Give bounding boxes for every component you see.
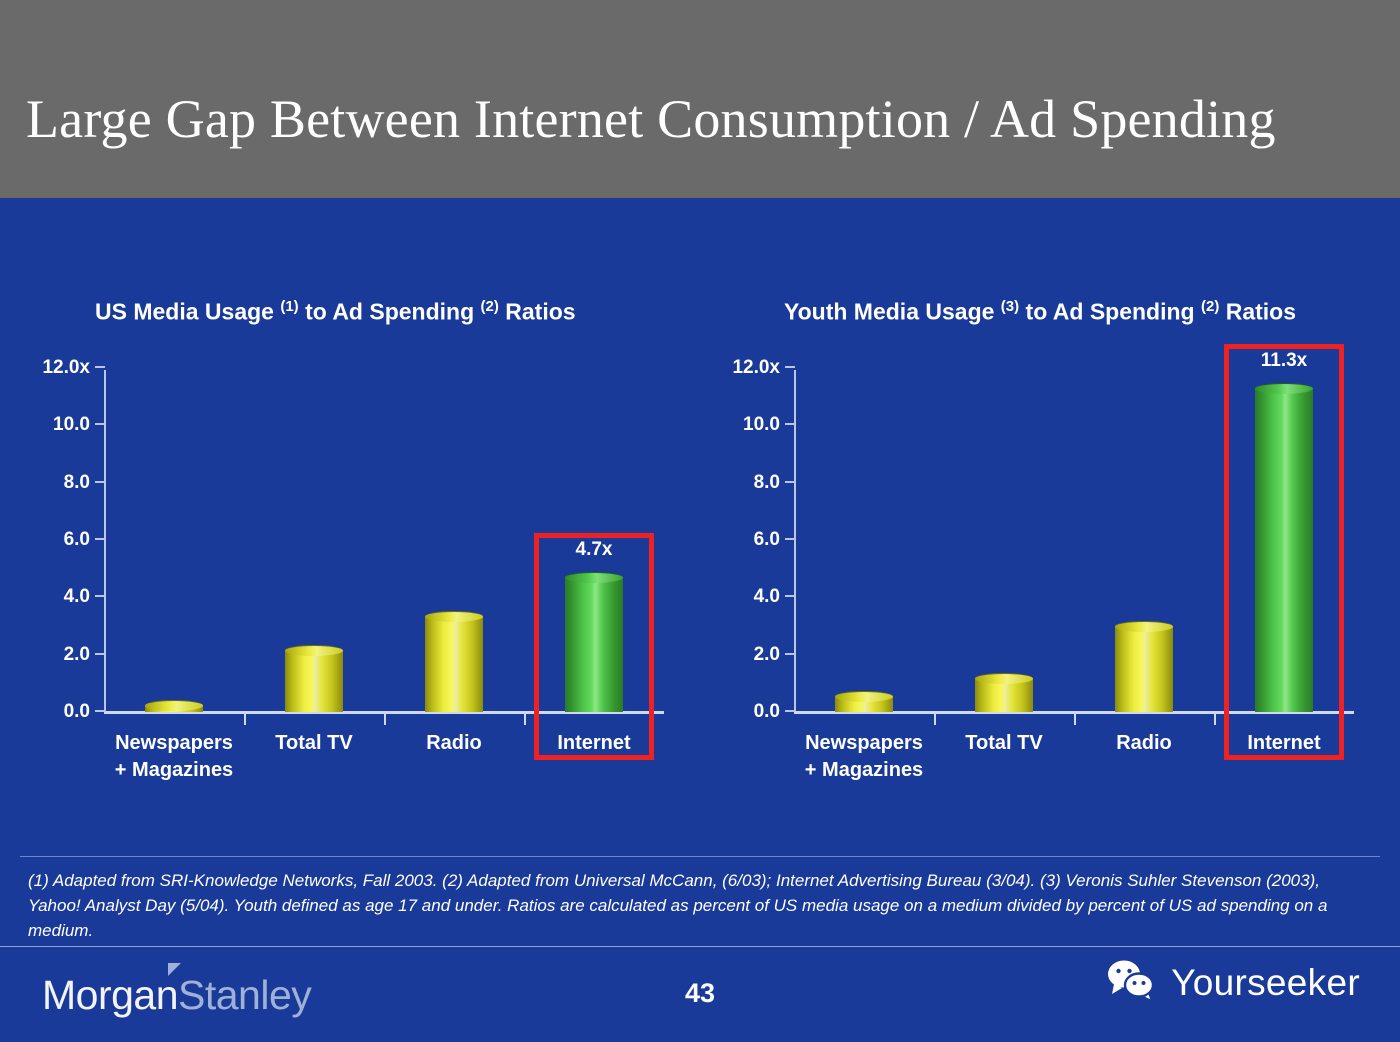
bar-data-label: 11.3x [1261, 350, 1308, 372]
chart-title-part-c: Ratios [1226, 299, 1296, 325]
bar-radio[interactable] [425, 616, 483, 712]
y-axis-tick [95, 710, 105, 712]
y-axis-tick-label: 12.0x [732, 357, 780, 379]
y-axis-tick-label: 6.0 [754, 529, 780, 551]
yourseeker-watermark: Yourseeker [1105, 958, 1360, 1007]
bar-data-label: 4.7x [576, 539, 613, 561]
bar-body [285, 650, 343, 712]
y-axis-tick [95, 481, 105, 483]
bar-body [1255, 388, 1313, 712]
footnote-divider [20, 856, 1380, 857]
y-axis-tick [785, 710, 795, 712]
y-axis-tick [785, 538, 795, 540]
chart-title-superscript-2: (2) [481, 298, 499, 315]
y-axis-tick-label: 2.0 [64, 644, 90, 666]
footnote-text: (1) Adapted from SRI-Knowledge Networks,… [28, 868, 1376, 943]
y-axis-tick [785, 423, 795, 425]
x-axis-category-label: Internet [557, 730, 630, 757]
y-axis-tick-label: 0.0 [64, 701, 90, 723]
x-axis-category-line: + Magazines [805, 757, 923, 784]
chart-title-superscript-1: (1) [280, 298, 298, 315]
bar-top-cap [145, 700, 203, 711]
bar-top-cap [565, 572, 623, 583]
morgan-stanley-triangle-icon [168, 963, 181, 976]
bar-internet[interactable] [1255, 388, 1313, 712]
chart-panel-us-media-usage: US Media Usage (1) to Ad Spending (2) Ra… [20, 270, 680, 800]
y-axis-tick [95, 423, 105, 425]
chart-title-youth-media-usage: Youth Media Usage (3) to Ad Spending (2)… [710, 290, 1370, 329]
x-axis-category-line: Internet [1247, 730, 1320, 757]
bar-body [565, 577, 623, 712]
x-axis-category-line: Internet [557, 730, 630, 757]
bar-top-cap [1115, 621, 1173, 632]
y-axis-tick-label: 2.0 [754, 644, 780, 666]
chart-title-us-media-usage: US Media Usage (1) to Ad Spending (2) Ra… [20, 290, 680, 329]
bar-body [1115, 626, 1173, 712]
footer-divider [0, 946, 1400, 947]
x-axis-tick [1074, 714, 1076, 725]
y-axis-tick-label: 6.0 [64, 529, 90, 551]
bar-top-cap [975, 673, 1033, 684]
x-axis-category-label: Radio [1116, 730, 1172, 757]
y-axis-tick-label: 12.0x [42, 357, 90, 379]
x-axis-tick [934, 714, 936, 725]
x-axis-category-line: Newspapers [805, 730, 923, 757]
slide: Large Gap Between Internet Consumption /… [0, 0, 1400, 1042]
y-axis-tick-label: 8.0 [64, 472, 90, 494]
y-axis-tick [785, 366, 795, 368]
bar-top-cap [425, 611, 483, 622]
chart-title-part-b: to Ad Spending [305, 299, 474, 325]
chart-title-superscript-2: (2) [1201, 298, 1219, 315]
x-axis-category-line: Total TV [275, 730, 352, 757]
bar-top-cap [285, 645, 343, 656]
bar-newspapers-magazines[interactable] [835, 696, 893, 712]
y-axis-tick-label: 4.0 [64, 586, 90, 608]
yourseeker-label: Yourseeker [1171, 962, 1360, 1004]
x-axis-category-label: Radio [426, 730, 482, 757]
y-axis-tick [95, 595, 105, 597]
x-axis-category-label: Total TV [275, 730, 352, 757]
x-axis-tick [1214, 714, 1216, 725]
y-axis-tick [785, 595, 795, 597]
wechat-icon [1105, 958, 1159, 1007]
x-axis-tick [244, 714, 246, 725]
x-axis-category-line: Radio [426, 730, 482, 757]
y-axis-tick [785, 653, 795, 655]
x-axis-category-label: Internet [1247, 730, 1320, 757]
x-axis-category-line: Radio [1116, 730, 1172, 757]
y-axis-tick-label: 10.0 [743, 414, 780, 436]
y-axis-tick [95, 653, 105, 655]
x-axis-category-line: Total TV [965, 730, 1042, 757]
x-axis-category-line: Newspapers [115, 730, 233, 757]
plot-area-us-media-usage: 0.02.04.06.08.010.012.0x4.7x [104, 370, 664, 714]
bar-newspapers-magazines[interactable] [145, 705, 203, 712]
y-axis-tick [785, 481, 795, 483]
bar-top-cap [1255, 383, 1313, 394]
chart-title-superscript-3: (3) [1001, 298, 1019, 315]
chart-title-part-b: to Ad Spending [1026, 299, 1195, 325]
chart-panel-youth-media-usage: Youth Media Usage (3) to Ad Spending (2)… [710, 270, 1370, 800]
y-axis-line [794, 370, 796, 714]
page-title: Large Gap Between Internet Consumption /… [26, 88, 1276, 150]
bar-radio[interactable] [1115, 626, 1173, 712]
y-axis-tick-label: 0.0 [754, 701, 780, 723]
bar-total-tv[interactable] [975, 678, 1033, 712]
x-axis-category-line: + Magazines [115, 757, 233, 784]
y-axis-tick-label: 4.0 [754, 586, 780, 608]
chart-title-part-a: US Media Usage [95, 299, 274, 325]
bar-internet[interactable] [565, 577, 623, 712]
x-axis-category-label: Total TV [965, 730, 1042, 757]
y-axis-tick [95, 366, 105, 368]
x-axis-category-label: Newspapers+ Magazines [805, 730, 923, 784]
x-axis-tick [524, 714, 526, 725]
bar-total-tv[interactable] [285, 650, 343, 712]
y-axis-tick [95, 538, 105, 540]
chart-title-part-a: Youth Media Usage [784, 299, 994, 325]
y-axis-line [104, 370, 106, 714]
x-axis-tick [384, 714, 386, 725]
y-axis-tick-label: 8.0 [754, 472, 780, 494]
chart-title-part-c: Ratios [505, 299, 575, 325]
plot-area-youth-media-usage: 0.02.04.06.08.010.012.0x11.3x [794, 370, 1354, 714]
y-axis-tick-label: 10.0 [53, 414, 90, 436]
bar-body [425, 616, 483, 712]
x-axis-category-label: Newspapers+ Magazines [115, 730, 233, 784]
bar-top-cap [835, 691, 893, 702]
